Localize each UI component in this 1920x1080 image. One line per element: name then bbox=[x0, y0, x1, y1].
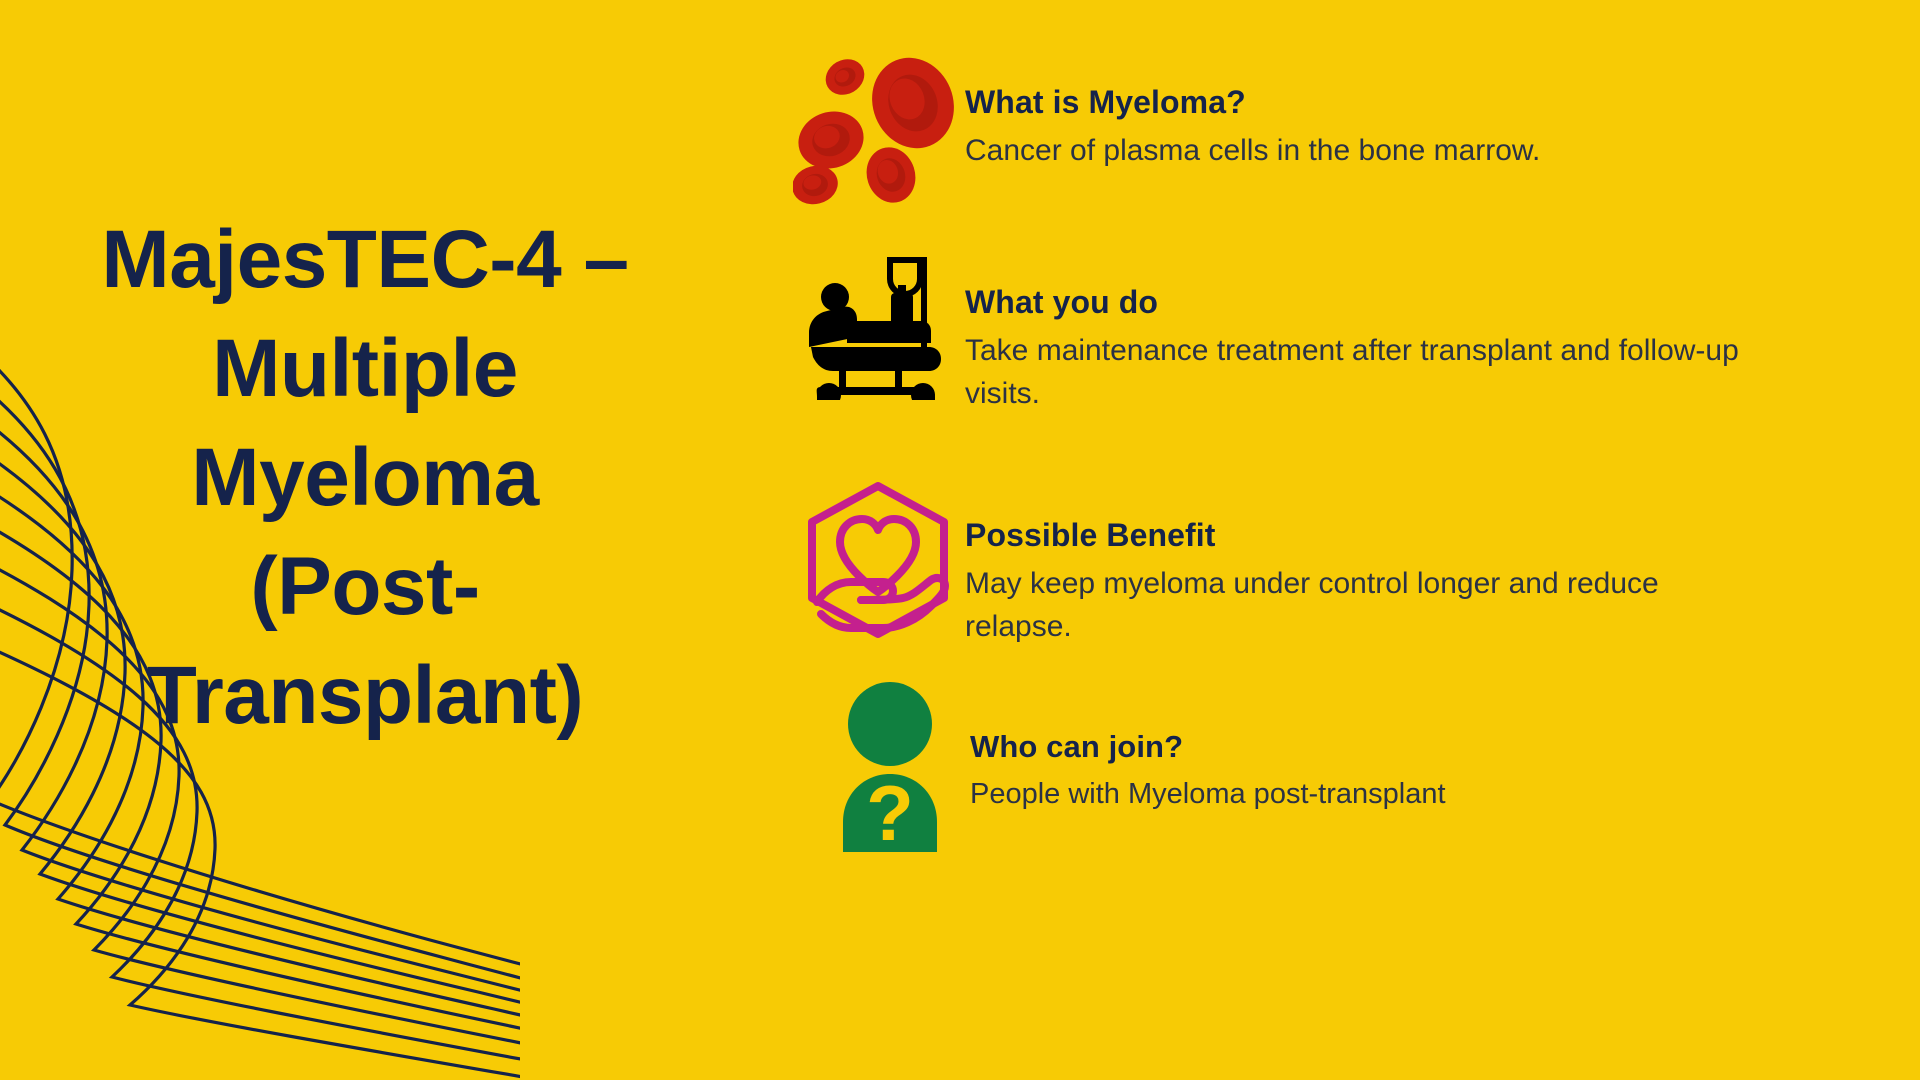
item-body: May keep myeloma under control longer an… bbox=[965, 563, 1765, 648]
blood-cells-icon-svg bbox=[793, 55, 963, 210]
list-item-possible-benefit: Possible Benefit May keep myeloma under … bbox=[790, 480, 1880, 648]
item-body: Cancer of plasma cells in the bone marro… bbox=[965, 130, 1765, 173]
item-text-block: What is Myeloma? Cancer of plasma cells … bbox=[965, 55, 1880, 173]
blood-cells-icon bbox=[790, 55, 965, 210]
title-block: MajesTEC-4 – Multiple Myeloma (Post- Tra… bbox=[40, 205, 690, 750]
page-title: MajesTEC-4 – Multiple Myeloma (Post- Tra… bbox=[40, 205, 690, 750]
item-heading: Possible Benefit bbox=[965, 518, 1880, 553]
item-text-block: What you do Take maintenance treatment a… bbox=[965, 255, 1880, 415]
svg-text:?: ? bbox=[866, 769, 914, 852]
item-text-block: Possible Benefit May keep myeloma under … bbox=[965, 480, 1880, 648]
hospital-bed-iv-icon bbox=[790, 255, 965, 400]
person-question-mark-icon-svg: ? bbox=[835, 680, 945, 852]
item-heading: What you do bbox=[965, 285, 1880, 320]
item-text-block: Who can join? People with Myeloma post-t… bbox=[970, 680, 1900, 815]
person-question-mark-icon: ? bbox=[810, 680, 970, 852]
poster-canvas: MajesTEC-4 – Multiple Myeloma (Post- Tra… bbox=[0, 0, 1920, 1080]
heart-in-hand-hexagon-icon bbox=[790, 480, 965, 640]
item-heading: Who can join? bbox=[970, 730, 1900, 764]
item-body: Take maintenance treatment after transpl… bbox=[965, 330, 1765, 415]
item-heading: What is Myeloma? bbox=[965, 85, 1880, 120]
heart-in-hand-hexagon-icon-svg bbox=[799, 480, 957, 640]
list-item-who-can-join: ? Who can join? People with Myeloma post… bbox=[810, 680, 1900, 852]
info-items-list: What is Myeloma? Cancer of plasma cells … bbox=[790, 0, 1920, 1080]
item-body: People with Myeloma post-transplant bbox=[970, 774, 1770, 815]
hospital-bed-iv-icon-svg bbox=[803, 255, 953, 400]
list-item-what-is-myeloma: What is Myeloma? Cancer of plasma cells … bbox=[790, 55, 1880, 210]
list-item-what-you-do: What you do Take maintenance treatment a… bbox=[790, 255, 1880, 415]
